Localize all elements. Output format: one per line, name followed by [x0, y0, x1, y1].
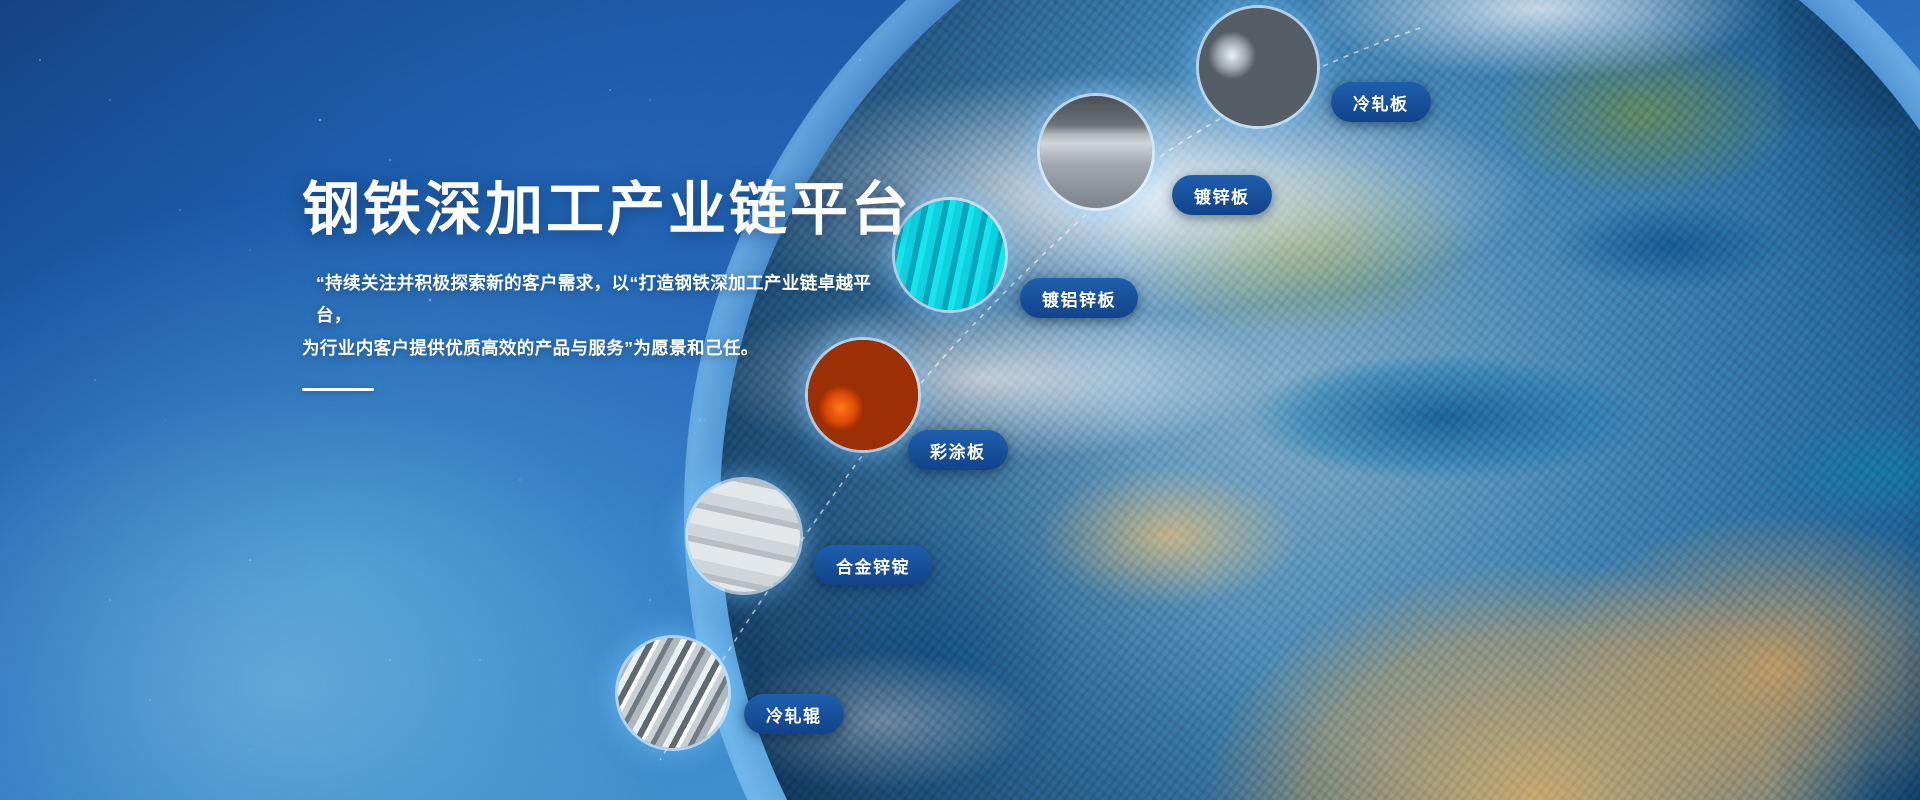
starfield-layer [0, 0, 1920, 800]
hero-banner: 冷轧板 镀锌板 镀铝锌板 彩涂板 合金锌锭 [0, 0, 1920, 800]
hero-copy-block: 钢铁深加工产业链平台 “持续关注并积极探索新的客户需求，以“打造钢铁深加工产业链… [302, 178, 882, 391]
label-zinc-alloy-ingot[interactable]: 合金锌锭 [814, 545, 932, 585]
label-color-coated-sheet[interactable]: 彩涂板 [908, 430, 1008, 470]
label-cold-rolling-roll[interactable]: 冷轧辊 [744, 694, 844, 734]
image-cold-rolled-coils [1199, 8, 1317, 126]
title-divider [302, 388, 374, 391]
image-cold-rolling-rolls [618, 638, 728, 748]
hero-subtitle-line-1: “持续关注并积极探索新的客户需求，以“打造钢铁深加工产业链卓越平台， [302, 267, 882, 332]
thumb-cold-rolled-sheet[interactable] [1199, 8, 1317, 126]
label-galvanized-sheet[interactable]: 镀锌板 [1172, 175, 1272, 215]
thumb-galvanized-sheet[interactable] [1040, 96, 1152, 208]
label-galvalume-sheet[interactable]: 镀铝锌板 [1020, 278, 1138, 318]
connector-arc [0, 0, 1920, 800]
thumb-zinc-alloy-ingot[interactable] [688, 480, 800, 592]
nebula-glow [0, 380, 700, 800]
image-zinc-ingots [688, 480, 800, 592]
label-cold-rolled-sheet[interactable]: 冷轧板 [1331, 82, 1431, 122]
hero-subtitle-line-2: 为行业内客户提供优质高效的产品与服务”为愿景和己任。 [302, 332, 882, 364]
hero-subtitle: “持续关注并积极探索新的客户需求，以“打造钢铁深加工产业链卓越平台， 为行业内客… [302, 267, 882, 364]
image-galvanized-warehouse [1040, 96, 1152, 208]
page-title: 钢铁深加工产业链平台 [302, 178, 882, 243]
starfield-layer-secondary [70, 40, 1920, 800]
thumb-cold-rolling-roll[interactable] [618, 638, 728, 748]
